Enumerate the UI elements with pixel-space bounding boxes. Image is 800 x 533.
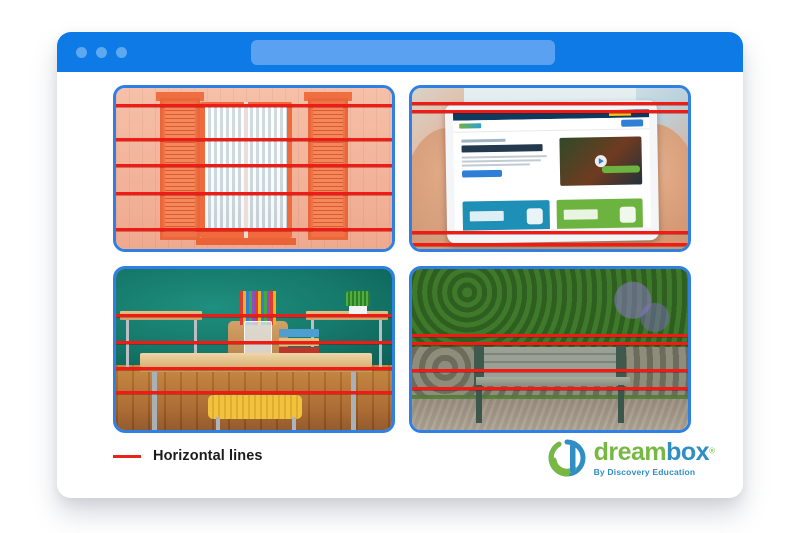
dreambox-wordmark: dreambox® By Discovery Education <box>594 440 715 477</box>
site-card-math <box>463 200 551 231</box>
horizontal-line <box>409 342 691 345</box>
legend-label: Horizontal lines <box>153 448 263 464</box>
front-desk-leg <box>152 372 157 430</box>
book <box>279 329 319 337</box>
tablet-screen <box>453 109 651 230</box>
image-card-classroom[interactable] <box>113 266 395 433</box>
window-mullion <box>244 102 248 238</box>
window-frame <box>200 102 292 238</box>
site-hero-button <box>462 170 502 178</box>
dreambox-tagline: By Discovery Education <box>594 468 715 477</box>
dreambox-word-dream: dream <box>594 438 667 466</box>
site-hero-badge <box>602 165 640 173</box>
site-hero-body-line <box>462 155 547 158</box>
bench-seat <box>476 377 630 386</box>
shutter-left <box>160 98 200 240</box>
horizontal-line <box>113 341 395 344</box>
horizontal-line <box>113 228 395 231</box>
window-dot-close-icon[interactable] <box>76 47 87 58</box>
desk-leg <box>379 320 382 368</box>
horizontal-line <box>409 110 691 113</box>
front-desk-top <box>140 353 372 367</box>
site-hero-title <box>462 144 543 152</box>
site-hero-body-line <box>462 163 530 166</box>
horizontal-line <box>113 367 395 370</box>
pencil-cup <box>244 321 272 357</box>
horizontal-line <box>409 369 691 372</box>
horizontal-line <box>409 334 691 337</box>
dreambox-mark-icon <box>547 438 587 478</box>
shutter-right <box>308 98 348 240</box>
window-control-dots <box>76 47 127 58</box>
horizontal-line <box>409 387 691 390</box>
site-hero-video-thumbnail <box>559 136 642 185</box>
image-card-facade[interactable] <box>113 85 395 252</box>
window-dot-minimize-icon[interactable] <box>96 47 107 58</box>
browser-window: Horizontal lines dreambox® By Discovery … <box>57 32 743 498</box>
horizontal-line <box>113 104 395 107</box>
photo-bench <box>412 269 688 430</box>
horizontal-line <box>113 164 395 167</box>
horizontal-line <box>113 391 395 394</box>
image-grid <box>113 85 691 433</box>
chair-leg <box>292 417 296 430</box>
window-sill <box>196 238 296 245</box>
bench-leg-left <box>476 385 482 423</box>
address-bar-input[interactable] <box>251 40 555 65</box>
legend-dash-icon <box>113 455 141 458</box>
legend: Horizontal lines <box>113 448 263 464</box>
site-product-cards <box>454 188 651 230</box>
site-hero-kicker <box>461 139 505 143</box>
plant-leaves <box>346 291 370 306</box>
front-desk-leg <box>351 372 356 430</box>
photo-facade <box>116 88 392 249</box>
horizontal-line <box>113 138 395 141</box>
bench-leg-right <box>618 385 624 423</box>
horizontal-line <box>113 192 395 195</box>
site-hero-body-line <box>462 159 541 162</box>
site-hero <box>453 129 650 191</box>
tablet-device <box>445 100 659 244</box>
dreambox-word-box: box <box>666 438 709 466</box>
dreambox-logo: dreambox® By Discovery Education <box>547 438 715 478</box>
browser-viewport: Horizontal lines dreambox® By Discovery … <box>57 72 743 498</box>
horizontal-line <box>409 243 691 246</box>
horizontal-line <box>113 314 395 317</box>
window-dot-maximize-icon[interactable] <box>116 47 127 58</box>
gravel-path <box>412 399 688 430</box>
desk-leg <box>126 320 129 368</box>
colored-pencils <box>240 291 276 325</box>
dreambox-trademark-icon: ® <box>709 446 715 455</box>
bench-backrest <box>482 347 624 377</box>
horizontal-line <box>409 231 691 234</box>
yellow-chair-seat <box>208 395 302 419</box>
site-card-math-header <box>463 200 550 231</box>
photo-classroom <box>116 269 392 430</box>
browser-title-bar <box>57 32 743 72</box>
site-card-reading-header <box>556 198 643 230</box>
site-hero-text <box>461 138 554 188</box>
horizontal-line <box>409 102 691 105</box>
chair-leg <box>216 417 220 430</box>
image-card-bench[interactable] <box>409 266 691 433</box>
image-card-tablet[interactable] <box>409 85 691 252</box>
site-card-reading <box>556 198 644 230</box>
